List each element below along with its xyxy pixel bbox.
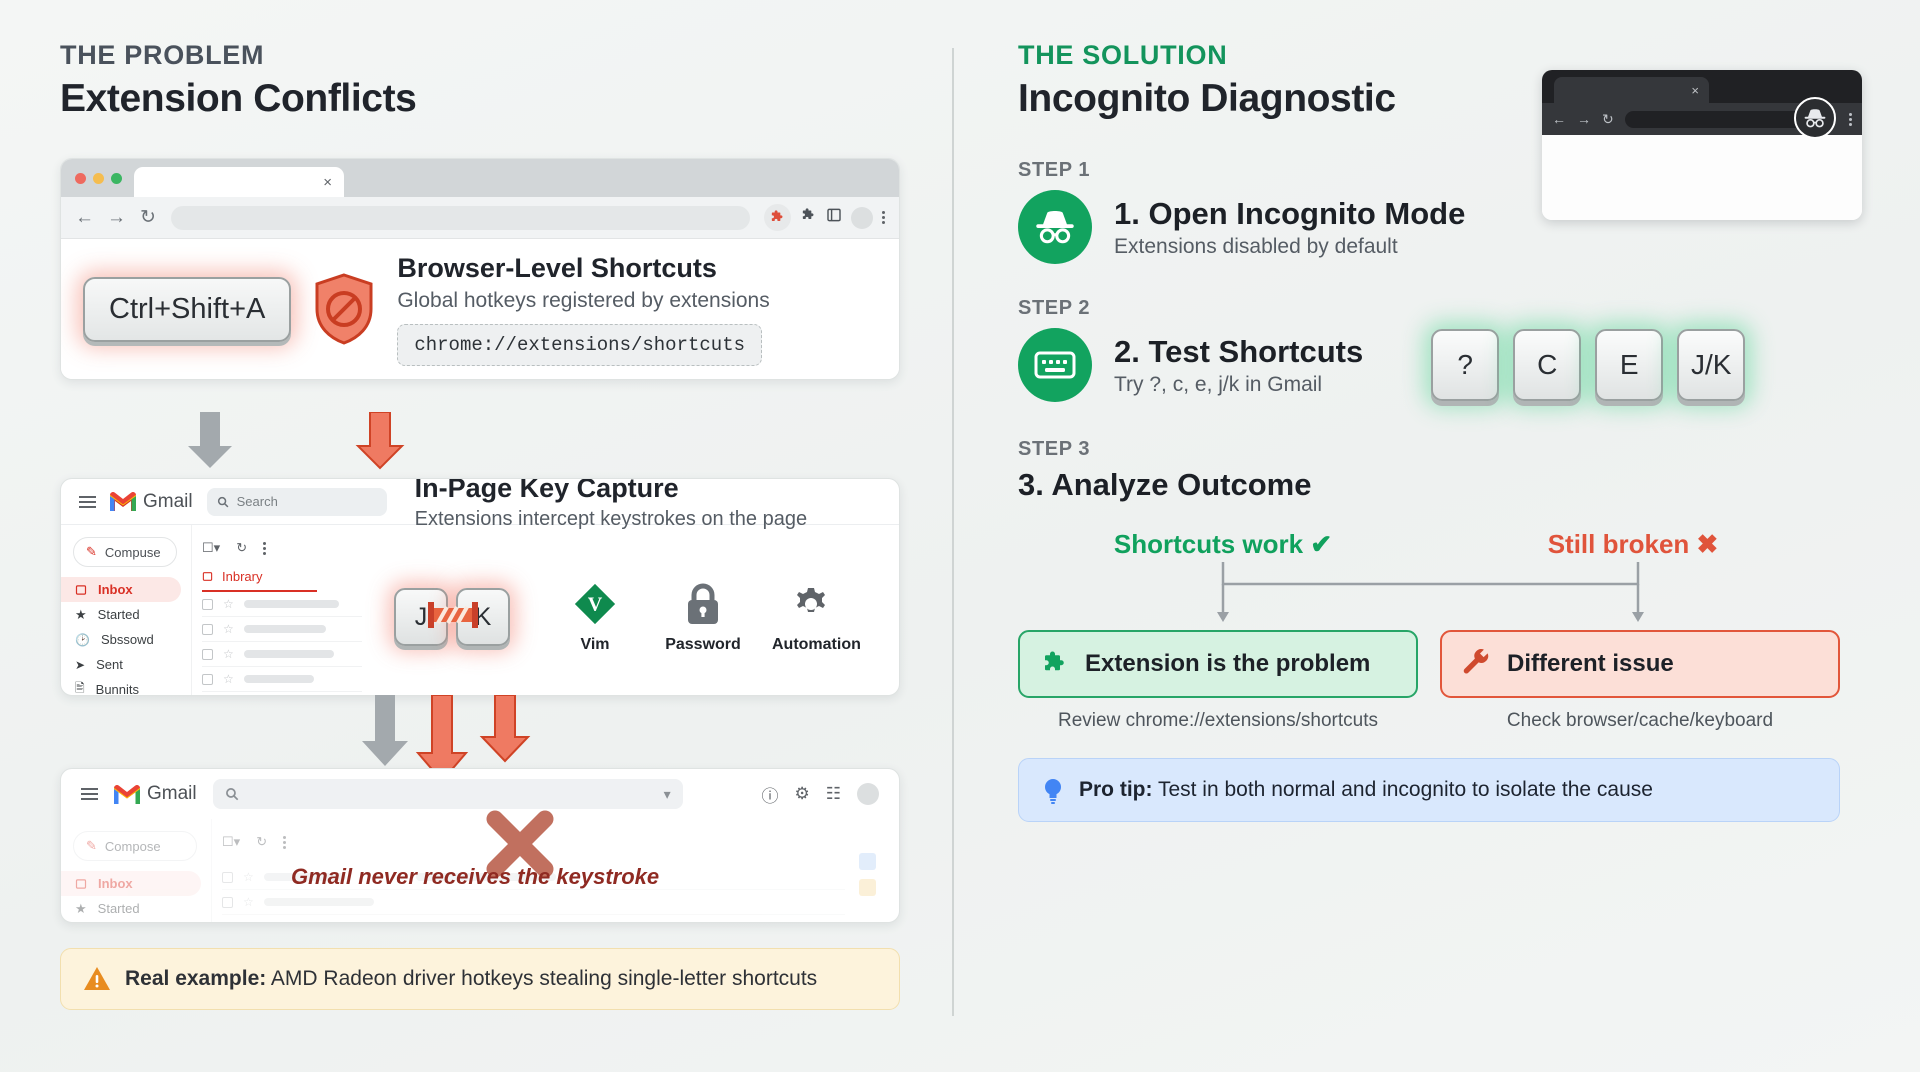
search-icon [217, 496, 229, 508]
capture-illustration: J K [376, 539, 850, 695]
solution-column: THE SOLUTION Incognito Diagnostic × ← → … [1018, 40, 1868, 822]
step-2-sub: Try ?, c, e, j/k in Gmail [1114, 373, 1363, 397]
result-box-extension[interactable]: Extension is the problem [1018, 630, 1418, 698]
compose-label: Compuse [105, 545, 161, 560]
lock-icon [682, 581, 724, 627]
barricade-icon [428, 602, 478, 628]
select-all-checkbox[interactable]: ☐▾ [202, 540, 220, 556]
incognito-browser-window: × ← → ↻ [1542, 70, 1862, 220]
test-key-e: E [1595, 329, 1663, 401]
list-item[interactable]: ☆ [222, 890, 845, 915]
star-icon[interactable]: ☆ [223, 622, 234, 636]
help-icon[interactable]: ⓘ [762, 782, 779, 807]
shortcut-keycap: Ctrl+Shift+A [83, 277, 291, 342]
in-page-capture-text: In-Page Key Capture Extensions intercept… [401, 478, 881, 531]
incognito-toolbar: ← → ↻ [1542, 103, 1862, 135]
branch-connectors [1018, 562, 1848, 624]
outcome-labels: Shortcuts work ✔ Still broken ✖ [1018, 529, 1868, 560]
real-example-banner: Real example: AMD Radeon driver hotkeys … [60, 948, 900, 1010]
refresh-icon[interactable]: ↻ [256, 834, 267, 850]
list-item[interactable]: ☆ [202, 692, 362, 696]
red-puzzle-extension-icon[interactable] [764, 204, 791, 231]
result-right: Different issue Check browser/cache/keyb… [1440, 630, 1840, 732]
star-icon[interactable]: ☆ [223, 597, 234, 611]
step-3-label: STEP 3 [1018, 438, 1868, 461]
step-1-sub: Extensions disabled by default [1114, 235, 1465, 259]
gmail-body-1: ✎ Compuse Inbox ★ Started [61, 525, 899, 695]
sidebar-item-inbox[interactable]: Inbox [61, 577, 181, 602]
step-2-circle [1018, 328, 1092, 402]
gmail-m-icon [110, 492, 136, 511]
side-app-icon[interactable] [859, 853, 876, 870]
gmail-logo: Gmail [110, 491, 193, 513]
step-1-text: 1. Open Incognito Mode Extensions disabl… [1114, 196, 1465, 259]
browser-toolbar: ← → ↻ [61, 197, 899, 239]
gmail-logo: Gmail [114, 783, 197, 805]
puzzle-extensions-icon[interactable] [800, 207, 817, 229]
star-icon[interactable]: ☆ [223, 672, 234, 686]
close-tab-icon[interactable]: × [1691, 83, 1699, 98]
row-placeholder [244, 650, 334, 658]
test-key-question: ? [1431, 329, 1499, 401]
sidebar-item-drafts[interactable]: 🖹 Bunnits [61, 677, 191, 696]
result-label: Different issue [1507, 650, 1674, 678]
gear-icon [789, 581, 833, 627]
row-placeholder [244, 625, 326, 633]
incognito-address-bar[interactable] [1625, 111, 1804, 128]
gmail-brand-label: Gmail [143, 491, 193, 513]
step-2-text: 2. Test Shortcuts Try ?, c, e, j/k in Gm… [1114, 334, 1363, 397]
vim-icon: V [572, 581, 618, 627]
incognito-page-area [1542, 135, 1862, 220]
extension-vim: V Vim [556, 581, 634, 654]
warning-triangle-icon [83, 966, 111, 992]
step-1-title: 1. Open Incognito Mode [1114, 196, 1465, 232]
list-item[interactable]: ☆ [202, 667, 362, 692]
sidebar-label: Inbox [98, 582, 133, 597]
step-3-title: 3. Analyze Outcome [1018, 467, 1868, 503]
compose-button[interactable]: ✎ Compuse [73, 537, 177, 567]
row-placeholder [244, 675, 314, 683]
red-arrow-down-3 [475, 695, 535, 765]
reload-icon[interactable]: ↻ [139, 206, 157, 229]
result-note-left: Review chrome://extensions/shortcuts [1018, 710, 1418, 732]
incognito-badge [1794, 97, 1836, 139]
browser-content: Ctrl+Shift+A Browser-Level Shortcuts Glo… [61, 239, 899, 379]
gmail-mock-1: Gmail Search In-Page Key Capture Extensi… [61, 479, 899, 695]
window-controls[interactable] [75, 159, 134, 197]
pencil-icon: ✎ [86, 838, 97, 854]
test-key-c: C [1513, 329, 1581, 401]
compose-button[interactable]: ✎ Compose [73, 831, 197, 861]
forward-icon[interactable]: → [107, 207, 125, 229]
more-options-icon[interactable] [283, 836, 286, 849]
column-divider [952, 48, 954, 1016]
list-item[interactable]: ☆ [202, 592, 362, 617]
list-toolbar: ☐▾ ↻ [202, 535, 362, 561]
browser-menu-icon[interactable] [1849, 113, 1852, 126]
blocked-shield-icon [313, 273, 375, 345]
gmail-capture-panel: Gmail Search In-Page Key Capture Extensi… [60, 478, 900, 696]
sidebar-label: Started [98, 901, 140, 916]
row-checkbox[interactable] [202, 674, 213, 685]
inbox-icon [75, 878, 87, 890]
list-item[interactable]: ☆ [202, 642, 362, 667]
row-placeholder [264, 898, 374, 906]
sidebar-item-inbox[interactable]: Inbox [61, 871, 201, 896]
result-left: Extension is the problem Review chrome:/… [1018, 630, 1418, 732]
list-item[interactable]: ☆ [202, 617, 362, 642]
result-box-different-issue[interactable]: Different issue [1440, 630, 1840, 698]
incognito-hat-icon [1033, 210, 1077, 244]
gmail-search-label: Search [237, 494, 278, 509]
red-arrow-down-1 [350, 412, 410, 472]
step-3: STEP 3 3. Analyze Outcome [1018, 438, 1868, 503]
step-2-label: STEP 2 [1018, 297, 1868, 320]
infographic-canvas: THE PROBLEM Extension Conflicts × ← → ↻ [0, 0, 1920, 1072]
send-icon: ➤ [75, 658, 85, 672]
incognito-tab[interactable]: × [1554, 77, 1709, 103]
star-icon[interactable]: ☆ [243, 870, 254, 884]
banner-bold: Real example: [125, 967, 266, 990]
sidebar-item-starred[interactable]: ★ Started [61, 896, 211, 921]
keyboard-icon [1034, 350, 1076, 380]
forward-icon[interactable]: → [1577, 111, 1591, 127]
tip-bold: Pro tip: [1079, 778, 1153, 801]
more-options-icon[interactable] [263, 542, 266, 555]
browser-tab[interactable]: × [134, 167, 344, 197]
result-label: Extension is the problem [1085, 650, 1370, 678]
panel1-subtitle: Global hotkeys registered by extensions [397, 289, 769, 313]
extension-label: Automation [772, 636, 850, 654]
sidebar-item-starred[interactable]: ★ Started [61, 602, 191, 627]
never-receives-caption: Gmail never receives the keystroke [291, 864, 659, 890]
sidebar-label: Inbox [98, 876, 133, 891]
sidebar-label: Sent [96, 657, 123, 672]
document-icon: 🖹 [75, 679, 85, 696]
side-app-icon[interactable] [859, 879, 876, 896]
search-dropdown-icon[interactable]: ▾ [664, 786, 671, 803]
extension-password: Password [664, 581, 742, 654]
close-tab-icon[interactable]: × [323, 174, 332, 191]
sidebar-item-sent[interactable]: ➤ Sent [61, 652, 191, 677]
puzzle-icon [1040, 649, 1070, 679]
profile-avatar[interactable] [851, 207, 873, 229]
select-all-checkbox[interactable]: ☐▾ [222, 834, 240, 850]
star-icon: ★ [75, 607, 87, 623]
panel2-subtitle: Extensions intercept keystrokes on the p… [415, 508, 881, 531]
jk-keycaps: J K [394, 588, 510, 646]
browser-menu-icon[interactable] [882, 211, 885, 224]
banner-text: Real example: AMD Radeon driver hotkeys … [125, 967, 817, 991]
gray-arrow-down-1 [180, 412, 240, 472]
extension-label: Password [664, 636, 742, 654]
test-keycaps: ? C E J/K [1431, 329, 1745, 401]
back-icon[interactable]: ← [75, 207, 93, 229]
extension-icon-row: V Vim [556, 581, 850, 654]
browser-level-text: Browser-Level Shortcuts Global hotkeys r… [397, 253, 769, 366]
result-boxes: Extension is the problem Review chrome:/… [1018, 630, 1868, 732]
gray-arrow-down-2 [355, 695, 415, 770]
search-icon [225, 787, 239, 801]
right-rail [859, 819, 899, 923]
sidebar-label: Sbssowd [101, 632, 154, 647]
back-icon[interactable]: ← [1552, 111, 1566, 127]
browser-window-panel: × ← → ↻ [60, 158, 900, 380]
gmail-blocked-panel: Gmail ▾ ⓘ ⚙ ☷ ✎ Compose [60, 768, 900, 923]
pro-tip-banner: Pro tip: Test in both normal and incogni… [1018, 758, 1840, 822]
test-key-jk: J/K [1677, 329, 1745, 401]
gmail-search-bar[interactable]: ▾ [213, 779, 683, 809]
star-icon: ★ [75, 901, 87, 917]
minimize-window-dot[interactable] [93, 173, 104, 184]
step-2: STEP 2 2. Test Shortcuts Try ?, c, e, j/ [1018, 297, 1868, 402]
toolbar-icons [764, 204, 885, 231]
address-bar[interactable] [171, 206, 750, 230]
maximize-window-dot[interactable] [111, 173, 122, 184]
problem-column: THE PROBLEM Extension Conflicts × ← → ↻ [60, 40, 920, 121]
settings-gear-icon[interactable]: ⚙ [795, 784, 810, 804]
avatar[interactable] [857, 783, 879, 805]
gmail-m-icon [114, 785, 140, 804]
gmail-message-list: ☐▾ ↻ Inbrary ☆ ☆ ☆ ☆ [191, 525, 376, 695]
close-window-dot[interactable] [75, 173, 86, 184]
gmail-sidebar-2: ✎ Compose Inbox ★ Started [61, 819, 211, 923]
row-checkbox[interactable] [202, 599, 213, 610]
outcome-label-broken: Still broken ✖ [1428, 529, 1838, 560]
tip-text: Pro tip: Test in both normal and incogni… [1079, 778, 1653, 802]
inbox-icon [75, 584, 87, 596]
row-checkbox[interactable] [222, 897, 233, 908]
panel1-title: Browser-Level Shortcuts [397, 253, 769, 284]
incognito-hat-icon [1802, 108, 1828, 128]
step-1-circle [1018, 190, 1092, 264]
sidebar-label: Started [98, 607, 140, 622]
solution-eyebrow: THE SOLUTION [1018, 40, 1868, 71]
row-placeholder [244, 600, 339, 608]
menu-icon[interactable] [79, 496, 96, 508]
gmail-search-box[interactable]: Search [207, 488, 387, 516]
refresh-icon[interactable]: ↻ [236, 540, 247, 556]
step-2-row: 2. Test Shortcuts Try ?, c, e, j/k in Gm… [1018, 328, 1868, 402]
gmail-header-icons: ⓘ ⚙ ☷ [762, 782, 880, 807]
outcome-label-works: Shortcuts work ✔ [1018, 529, 1428, 560]
row-checkbox[interactable] [202, 649, 213, 660]
svg-text:V: V [588, 593, 603, 615]
gmail-header: Gmail Search In-Page Key Capture Extensi… [61, 479, 899, 525]
apps-grid-icon[interactable]: ☷ [826, 784, 841, 804]
clock-icon: 🕑 [75, 633, 90, 647]
shortcuts-url-chip[interactable]: chrome://extensions/shortcuts [397, 324, 762, 366]
panel2-title: In-Page Key Capture [415, 478, 881, 504]
lightbulb-icon [1041, 776, 1065, 804]
extension-label: Vim [556, 636, 634, 654]
list-tab-primary[interactable]: Inbrary [202, 569, 317, 592]
star-icon[interactable]: ☆ [223, 647, 234, 661]
result-note-right: Check browser/cache/keyboard [1440, 710, 1840, 732]
wrench-icon [1462, 649, 1492, 679]
browser-tab-bar: × [61, 159, 899, 197]
banner-rest: AMD Radeon driver hotkeys stealing singl… [266, 967, 817, 990]
problem-eyebrow: THE PROBLEM [60, 40, 920, 71]
gmail-sidebar: ✎ Compuse Inbox ★ Started [61, 525, 191, 695]
inbox-tab-icon [202, 571, 213, 582]
tip-rest: Test in both normal and incognito to iso… [1153, 778, 1653, 801]
list-tab-label: Inbrary [222, 569, 262, 584]
gmail-header-2: Gmail ▾ ⓘ ⚙ ☷ [61, 769, 899, 819]
row-checkbox[interactable] [202, 624, 213, 635]
pencil-icon: ✎ [86, 544, 97, 560]
step-2-title: 2. Test Shortcuts [1114, 334, 1363, 370]
sidebar-label: Bunnits [96, 682, 139, 696]
gmail-brand-label: Gmail [147, 783, 197, 805]
compose-label: Compose [105, 839, 161, 854]
side-panel-icon[interactable] [826, 207, 842, 228]
reload-icon[interactable]: ↻ [1602, 111, 1614, 128]
problem-headline: Extension Conflicts [60, 77, 920, 121]
sidebar-item-snoozed[interactable]: 🕑 Sbssowd [61, 627, 191, 652]
extension-automation: Automation [772, 581, 850, 654]
menu-icon[interactable] [81, 788, 98, 800]
row-checkbox[interactable] [222, 872, 233, 883]
star-icon[interactable]: ☆ [243, 895, 254, 909]
